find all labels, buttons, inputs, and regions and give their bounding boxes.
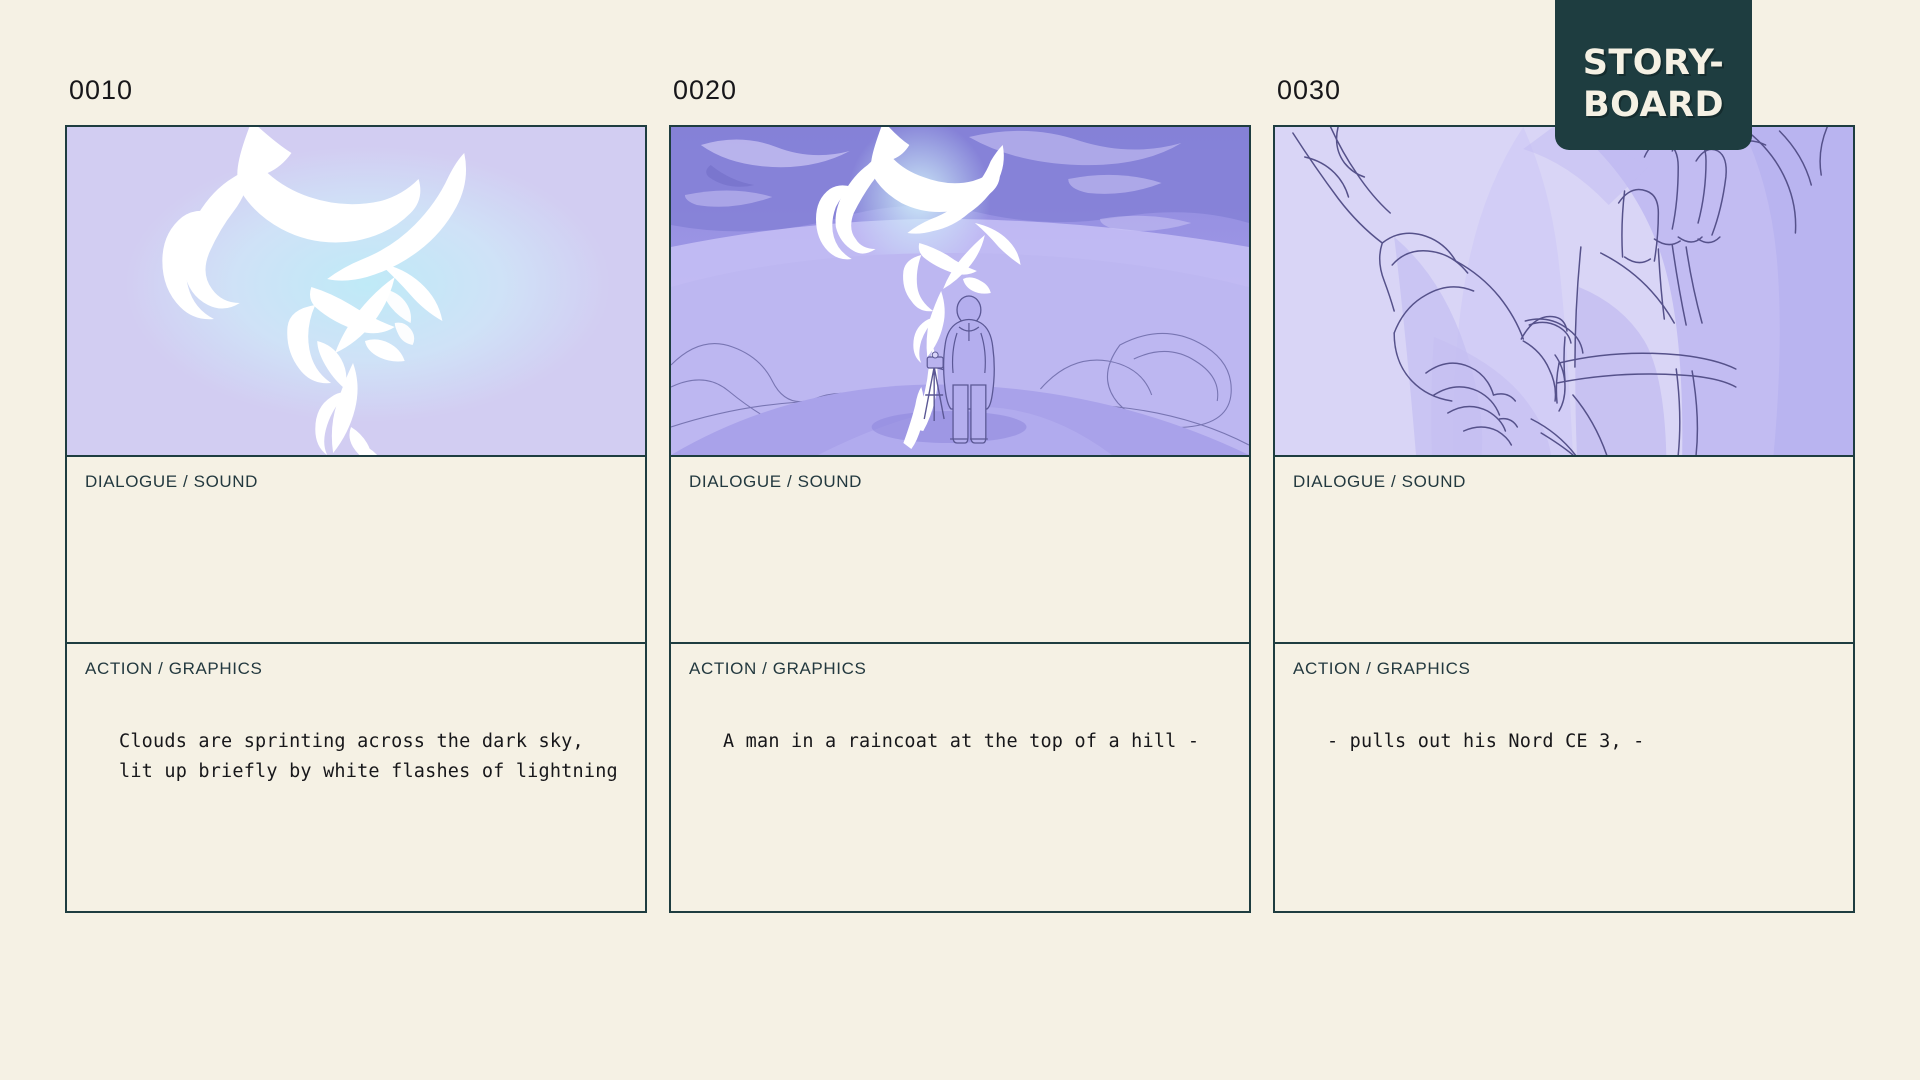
man-with-tripod-on-hill-lightning-strike-icon [671,127,1249,455]
storyboard-brand-badge: STORY- BOARD [1555,0,1752,150]
panel-artwork-cell[interactable] [671,127,1249,457]
action-graphics-cell[interactable]: ACTION / GRAPHICS - pulls out his Nord C… [1275,644,1853,911]
dialogue-sound-label: DIALOGUE / SOUND [1293,472,1466,492]
action-graphics-cell[interactable]: ACTION / GRAPHICS Clouds are sprinting a… [67,644,645,911]
action-graphics-text: Clouds are sprinting across the dark sky… [119,727,623,787]
panel-number: 0020 [669,70,1251,125]
action-graphics-text: - pulls out his Nord CE 3, - [1327,727,1831,757]
action-graphics-label: ACTION / GRAPHICS [689,659,866,679]
panel-number: 0010 [65,70,647,125]
action-graphics-label: ACTION / GRAPHICS [1293,659,1470,679]
panel-artwork-cell[interactable] [67,127,645,457]
action-graphics-label: ACTION / GRAPHICS [85,659,262,679]
dialogue-sound-cell[interactable]: DIALOGUE / SOUND [67,457,645,644]
panel-frame: DIALOGUE / SOUND ACTION / GRAPHICS A man… [669,125,1251,913]
storyboard-panel[interactable]: 0030 [1273,70,1855,913]
dialogue-sound-label: DIALOGUE / SOUND [689,472,862,492]
panel-frame: DIALOGUE / SOUND ACTION / GRAPHICS - pul… [1273,125,1855,913]
panel-frame: DIALOGUE / SOUND ACTION / GRAPHICS Cloud… [65,125,647,913]
dialogue-sound-cell[interactable]: DIALOGUE / SOUND [1275,457,1853,644]
hands-pulling-phone-from-pocket-icon [1275,127,1853,455]
brand-title-line-2: BOARD [1583,85,1724,126]
brand-title-line-1: STORY- [1583,43,1725,84]
storyboard-panel-grid: 0010 [65,70,1855,913]
action-graphics-text: A man in a raincoat at the top of a hill… [723,727,1227,757]
panel-artwork-cell[interactable] [1275,127,1853,457]
storyboard-panel[interactable]: 0020 [669,70,1251,913]
lightning-in-dark-sky-icon [67,127,645,455]
dialogue-sound-cell[interactable]: DIALOGUE / SOUND [671,457,1249,644]
dialogue-sound-label: DIALOGUE / SOUND [85,472,258,492]
action-graphics-cell[interactable]: ACTION / GRAPHICS A man in a raincoat at… [671,644,1249,911]
storyboard-panel[interactable]: 0010 [65,70,647,913]
